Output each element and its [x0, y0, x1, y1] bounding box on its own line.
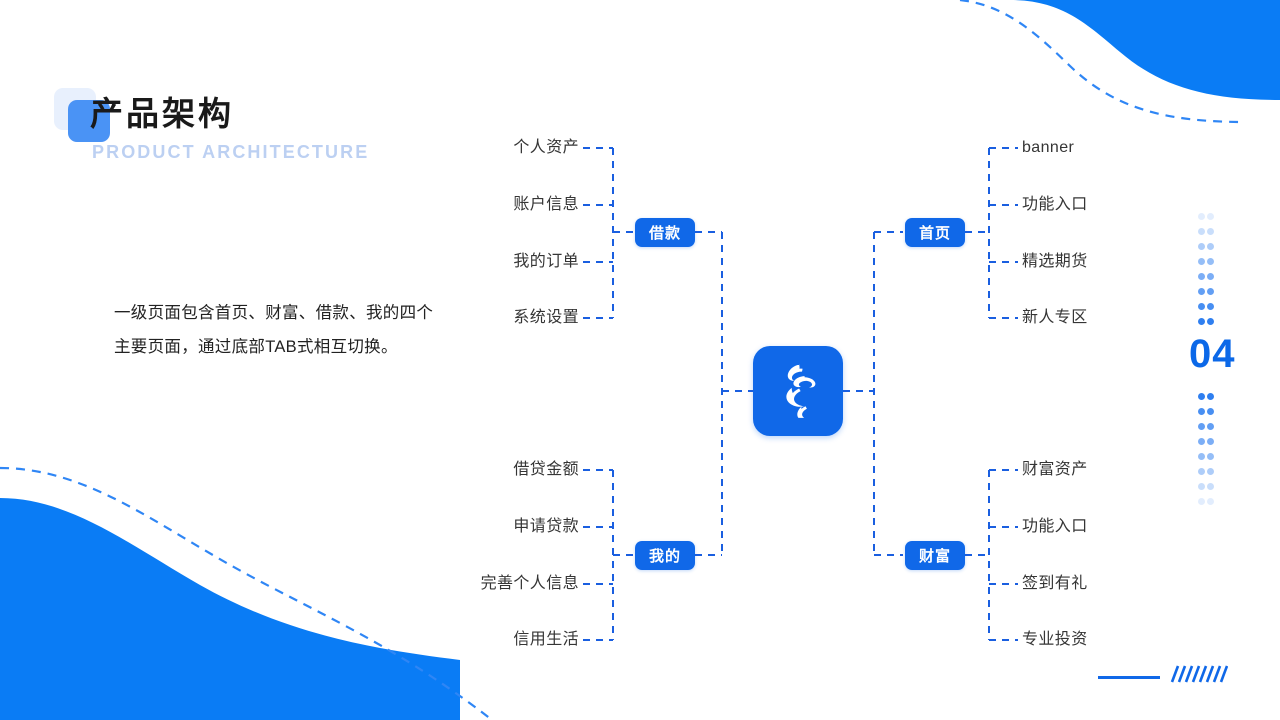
leaf-loan-my-orders[interactable]: 我的订单 [513, 252, 579, 272]
dot [1198, 273, 1205, 280]
dot [1198, 498, 1205, 505]
dot [1198, 483, 1205, 490]
dot [1198, 423, 1205, 430]
dot [1207, 318, 1214, 325]
node-home[interactable]: 首页 [905, 218, 965, 247]
leaf-mine-complete-profile[interactable]: 完善个人信息 [481, 574, 579, 594]
leaf-mine-apply-loan[interactable]: 申请贷款 [513, 517, 579, 537]
mindmap-connectors [0, 0, 1280, 720]
dot [1207, 303, 1214, 310]
dot [1207, 468, 1214, 475]
dot-grid-top-decoration [1198, 213, 1216, 333]
dot [1198, 258, 1205, 265]
dot [1207, 498, 1214, 505]
leaf-mine-credit-life[interactable]: 信用生活 [513, 630, 579, 650]
dot [1198, 288, 1205, 295]
dot [1207, 273, 1214, 280]
leaf-wealth-pro-investing[interactable]: 专业投资 [1022, 630, 1088, 650]
dot [1207, 393, 1214, 400]
dot [1207, 243, 1214, 250]
leaf-loan-personal-assets[interactable]: 个人资产 [513, 138, 579, 158]
app-logo [753, 346, 843, 436]
dot [1207, 213, 1214, 220]
dot [1198, 453, 1205, 460]
dot [1198, 468, 1205, 475]
dot [1198, 438, 1205, 445]
leaf-wealth-assets[interactable]: 财富资产 [1022, 460, 1088, 480]
slide-canvas: 产品架构 PRODUCT ARCHITECTURE 一级页面包含首页、财富、借款… [0, 0, 1280, 720]
dot [1207, 288, 1214, 295]
dot [1198, 228, 1205, 235]
dot [1198, 243, 1205, 250]
dot [1198, 318, 1205, 325]
node-mine[interactable]: 我的 [635, 541, 695, 570]
dot [1198, 393, 1205, 400]
app-logo-icon [771, 362, 825, 420]
leaf-loan-system-settings[interactable]: 系统设置 [513, 308, 579, 328]
dot-grid-bottom-decoration [1198, 393, 1216, 513]
dot [1207, 483, 1214, 490]
leaf-mine-loan-amount[interactable]: 借贷金额 [513, 460, 579, 480]
bottom-rule-decoration [1098, 676, 1160, 679]
dot [1207, 453, 1214, 460]
leaf-wealth-checkin-gift[interactable]: 签到有礼 [1022, 574, 1088, 594]
node-wealth[interactable]: 财富 [905, 541, 965, 570]
dot [1207, 438, 1214, 445]
dot [1207, 228, 1214, 235]
leaf-home-banner[interactable]: banner [1022, 138, 1074, 158]
dot [1207, 408, 1214, 415]
leaf-wealth-function-entry[interactable]: 功能入口 [1022, 517, 1088, 537]
dot [1198, 303, 1205, 310]
page-number: 04 [1189, 331, 1236, 377]
leaf-home-newcomer-zone[interactable]: 新人专区 [1022, 308, 1088, 328]
leaf-home-featured-futures[interactable]: 精选期货 [1022, 252, 1088, 272]
dot [1207, 423, 1214, 430]
leaf-loan-account-info[interactable]: 账户信息 [513, 195, 579, 215]
dot [1198, 408, 1205, 415]
dot [1207, 258, 1214, 265]
hatch-marks-decoration [1166, 664, 1228, 684]
node-loan[interactable]: 借款 [635, 218, 695, 247]
dot [1198, 213, 1205, 220]
leaf-home-function-entry[interactable]: 功能入口 [1022, 195, 1088, 215]
